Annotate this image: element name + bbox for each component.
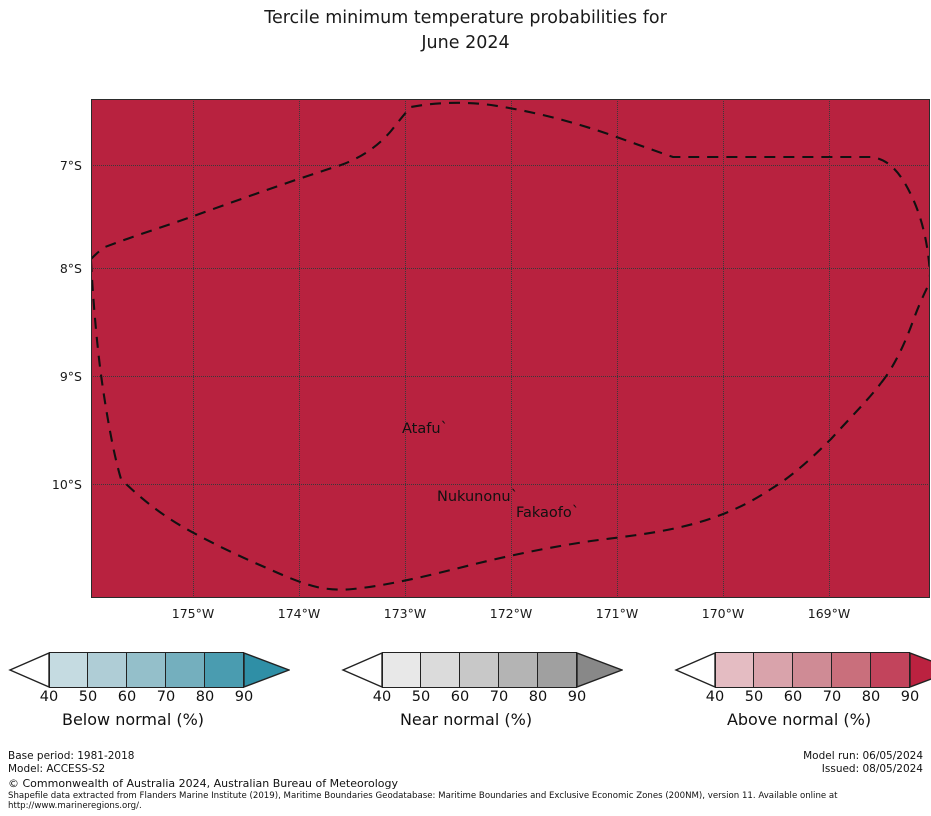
legend-cell [715,652,754,688]
footer-model: Model: ACCESS-S2 [8,763,105,776]
footer-base-period: Base period: 1981-2018 [8,750,134,763]
legend-tick: 90 [895,689,925,705]
legend-tick: 70 [484,689,514,705]
footer-model-run: Model run: 06/05/2024 [803,750,923,763]
legend-right-arrow-cap [910,652,931,688]
place-name: Nukunonu [437,489,511,505]
legend-tick: 70 [151,689,181,705]
footer-attribution-line-1: Shapefile data extracted from Flanders M… [8,791,838,802]
legend-cell [127,652,166,688]
x-axis-tick-label: 169°W [784,606,874,621]
legend-cell [166,652,205,688]
legend-tick: 60 [778,689,808,705]
legend-tick: 60 [112,689,142,705]
legend-color-cells [715,652,910,688]
legend-tick-row: 40 50 60 70 80 90 [8,689,298,709]
legend-tick: 90 [562,689,592,705]
x-axis-tick-label: 173°W [360,606,450,621]
legend-tick: 80 [190,689,220,705]
legend-tick: 50 [739,689,769,705]
page-title: Tercile minimum temperature probabilitie… [0,6,931,56]
map-plot-area: Atafu` Nukunonu` Fakaofo` [91,99,930,598]
legend-cell [754,652,793,688]
legend-cell [421,652,460,688]
legend-right-arrow-cap [577,652,623,688]
legend-cell [49,652,88,688]
legend-tick: 40 [700,689,730,705]
place-label-fakaofo: Fakaofo` [516,503,579,521]
legend-cell [499,652,538,688]
legend-cell [382,652,421,688]
eez-boundary [91,99,930,598]
legend-left-arrow-cap [674,652,715,688]
place-label-atafu: Atafu` [402,419,448,437]
legend-cell [832,652,871,688]
place-label-nukunonu: Nukunonu` [437,487,518,505]
legend-left-arrow-cap [341,652,382,688]
legend-tick: 60 [445,689,475,705]
legend-title: Above normal (%) [674,710,924,729]
legend-left-arrow-cap [8,652,49,688]
legend-title: Below normal (%) [8,710,258,729]
y-axis-tick-label: 8°S [22,261,82,276]
legend-tick-row: 40 50 60 70 80 90 [341,689,631,709]
x-axis-tick-label: 170°W [678,606,768,621]
legend-tick: 80 [856,689,886,705]
place-name: Fakaofo [516,505,572,521]
x-axis-tick-label: 175°W [148,606,238,621]
legend-tick: 80 [523,689,553,705]
legend-cell [88,652,127,688]
legend-tick: 70 [817,689,847,705]
legend-tick-row: 40 50 60 70 80 90 [674,689,931,709]
legend-tick: 50 [406,689,436,705]
legend-color-cells [382,652,577,688]
legend-cell [871,652,910,688]
legend-cell [538,652,577,688]
place-marker-icon: ` [572,503,580,521]
x-axis-tick-label: 174°W [254,606,344,621]
place-marker-icon: ` [441,419,449,437]
legend-title: Near normal (%) [341,710,591,729]
footer-attribution-line-2[interactable]: http://www.marineregions.org/. [8,801,142,812]
legend-cell [205,652,244,688]
place-name: Atafu [402,421,441,437]
y-axis-tick-label: 9°S [22,369,82,384]
legend-cell [460,652,499,688]
y-axis-tick-label: 7°S [22,158,82,173]
x-axis-tick-label: 171°W [572,606,662,621]
legend-above-normal: 40 50 60 70 80 90 Above normal (%) [674,652,931,688]
legend-below-normal: 40 50 60 70 80 90 Below normal (%) [8,652,298,688]
legend-tick: 90 [229,689,259,705]
legend-tick: 40 [34,689,64,705]
footer-issued: Issued: 08/05/2024 [822,763,923,776]
footer-copyright: © Commonwealth of Australia 2024, Austra… [8,777,398,790]
legend-color-cells [49,652,244,688]
y-axis-tick-label: 10°S [22,477,82,492]
legend-right-arrow-cap [244,652,290,688]
legend-tick: 50 [73,689,103,705]
x-axis-tick-label: 172°W [466,606,556,621]
legend-near-normal: 40 50 60 70 80 90 Near normal (%) [341,652,631,688]
legend-cell [793,652,832,688]
legend-tick: 40 [367,689,397,705]
